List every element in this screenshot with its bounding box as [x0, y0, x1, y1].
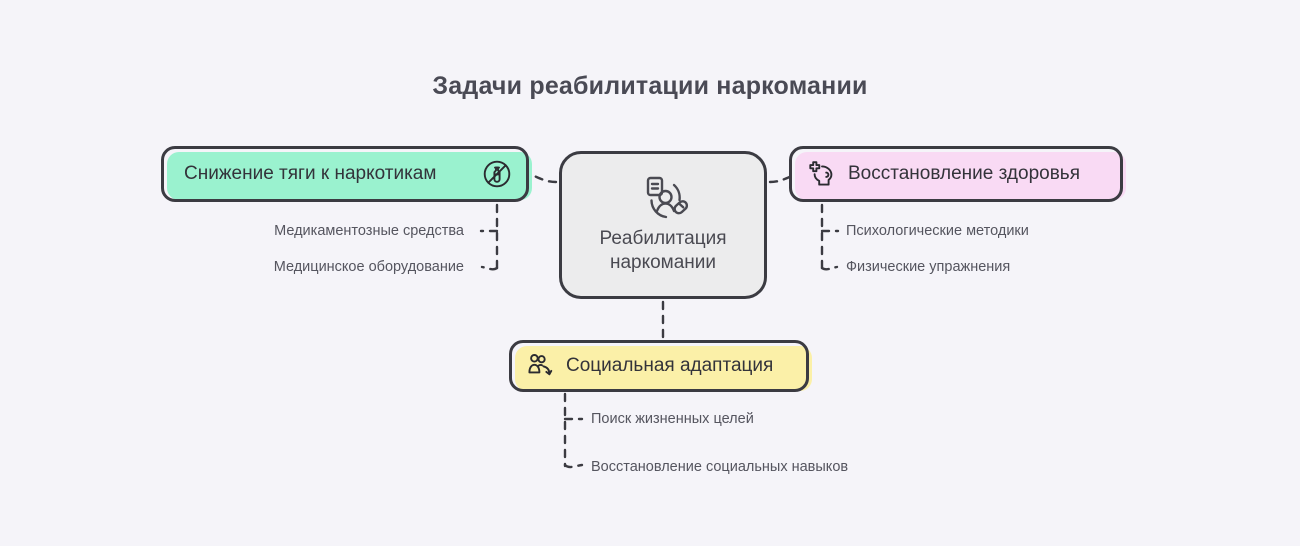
leaf-label-social-1: Поиск жизненных целей	[591, 411, 754, 427]
branch-label-social: Социальная адаптация	[566, 355, 773, 377]
elbow-health-2	[822, 267, 837, 269]
leaf-label-social-2: Восстановление социальных навыков	[591, 459, 848, 475]
page-title: Задачи реабилитации наркомании	[0, 72, 1300, 101]
person-document-pill-icon	[636, 175, 690, 221]
branch-label-craving: Снижение тяги к наркотикам	[184, 163, 436, 185]
leaf-label-health-2: Физические упражнения	[846, 259, 1010, 275]
head-medical-cross-icon	[806, 159, 836, 189]
branch-label-health: Восстановление здоровья	[848, 163, 1080, 185]
branch-node-social[interactable]: Социальная адаптация	[509, 340, 809, 392]
branch-node-craving[interactable]: Снижение тяги к наркотикам	[161, 146, 529, 202]
connector-center-craving	[529, 174, 556, 182]
center-node-label: Реабилитация наркомании	[599, 227, 726, 276]
elbow-social-2	[565, 465, 582, 467]
diagram-canvas: Задачи реабилитации наркомании Реабилита…	[0, 0, 1300, 546]
leaf-label-craving-2: Медицинское оборудование	[274, 259, 464, 275]
people-group-arrow-icon	[526, 351, 556, 381]
leaf-label-craving-1: Медикаментозные средства	[274, 223, 464, 239]
elbow-craving-2	[482, 267, 497, 269]
leaf-label-health-1: Психологические методики	[846, 223, 1029, 239]
no-drugs-prohibition-icon	[482, 159, 512, 189]
branch-node-health[interactable]: Восстановление здоровья	[789, 146, 1123, 202]
center-node-rehabilitation[interactable]: Реабилитация наркомании	[559, 151, 767, 299]
